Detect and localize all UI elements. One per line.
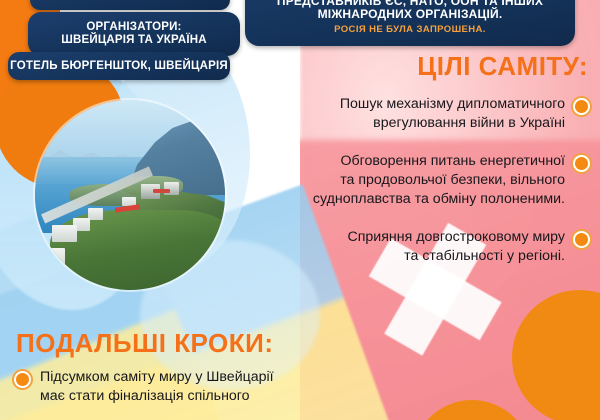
summit-venue-photo	[35, 100, 225, 290]
banner-participants-line-2: МІЖНАРОДНИХ ОРГАНІЗАЦІЙ.	[318, 8, 503, 21]
goal-text: Сприяння довгостроковому миру та стабіль…	[347, 228, 565, 266]
photo-red-roof	[153, 189, 170, 193]
bullet-circle-icon	[14, 371, 31, 388]
next-step-text: Підсумком саміту миру у Швейцарії має ст…	[40, 368, 274, 406]
infographic-canvas: ОРГАНІЗАТОРИ: ШВЕЙЦАРІЯ ТА УКРАЇНА ГОТЕЛ…	[0, 0, 600, 420]
banner-hotel-line: ГОТЕЛЬ БЮРГЕНШТОК, ШВЕЙЦАРІЯ	[10, 60, 228, 73]
banner-top-left-partial	[30, 0, 230, 10]
bullet-circle-icon	[573, 98, 590, 115]
heading-next-steps: ПОДАЛЬШІ КРОКИ:	[16, 328, 274, 359]
list-item: Підсумком саміту миру у Швейцарії має ст…	[14, 368, 274, 406]
banner-organizers: ОРГАНІЗАТОРИ: ШВЕЙЦАРІЯ ТА УКРАЇНА	[28, 12, 240, 56]
banner-organizers-line-2: ШВЕЙЦАРІЯ ТА УКРАЇНА	[61, 34, 207, 47]
banner-organizers-line-1: ОРГАНІЗАТОРИ:	[86, 21, 181, 34]
photo-building	[45, 248, 66, 269]
photo-building	[52, 225, 77, 242]
bullet-circle-icon	[573, 231, 590, 248]
bullet-circle-icon	[573, 155, 590, 172]
list-item: Сприяння довгостроковому миру та стабіль…	[347, 228, 590, 266]
banner-participants-note-russia: РОСІЯ НЕ БУЛА ЗАПРОШЕНА.	[334, 25, 486, 36]
heading-summit-goals: ЦІЛІ САМІТУ:	[417, 51, 588, 82]
goal-text: Обговорення питань енергетичної та продо…	[313, 152, 565, 209]
banner-participants: ПРЕДСТАВНИКІВ ЄС, НАТО, ООН ТА ІНШИХ МІЖ…	[245, 0, 575, 46]
goal-text: Пошук механізму дипломатичного врегулюва…	[340, 95, 565, 133]
banner-venue-hotel: ГОТЕЛЬ БЮРГЕНШТОК, ШВЕЙЦАРІЯ	[8, 52, 230, 80]
list-item: Пошук механізму дипломатичного врегулюва…	[340, 95, 590, 133]
list-item: Обговорення питань енергетичної та продо…	[313, 152, 590, 209]
photo-building	[88, 208, 103, 219]
